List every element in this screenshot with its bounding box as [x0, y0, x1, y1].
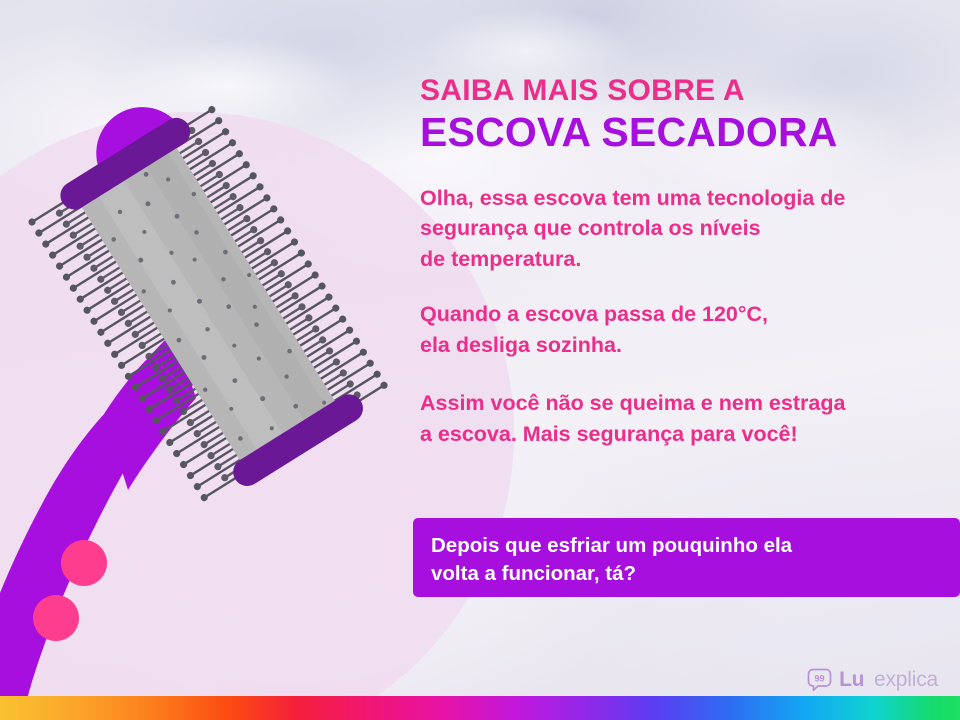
callout-box: Depois que esfriar um pouquinho ela volt…	[413, 518, 960, 597]
brush-barrel-group	[5, 69, 395, 513]
svg-text:99: 99	[815, 674, 825, 684]
body-paragraph-3: Assim você não se queima e nem estraga a…	[420, 388, 930, 449]
lu-explica-logo: 99 Lu explica	[807, 667, 938, 692]
handle-button-lower	[33, 595, 79, 641]
callout-text: Depois que esfriar um pouquinho ela volt…	[431, 532, 960, 588]
poster-canvas: SAIBA MAIS SOBRE A ESCOVA SECADORA Olha,…	[0, 0, 960, 720]
logo-wordmark-explica: explica	[874, 668, 938, 692]
body-paragraph-1: Olha, essa escova tem uma tecnologia de …	[420, 183, 930, 275]
logo-wordmark-lu: Lu	[839, 668, 864, 692]
hair-dryer-brush-illustration	[0, 0, 420, 720]
headline-kicker: SAIBA MAIS SOBRE A	[420, 74, 930, 108]
speech-bubble-quote-icon: 99	[807, 667, 832, 692]
body-paragraph-2: Quando a escova passa de 120°C, ela desl…	[420, 299, 930, 360]
page-title: ESCOVA SECADORA	[420, 110, 930, 155]
rainbow-gradient-bar	[0, 696, 960, 720]
text-column: SAIBA MAIS SOBRE A ESCOVA SECADORA Olha,…	[420, 74, 930, 449]
handle-button-upper	[61, 540, 107, 586]
